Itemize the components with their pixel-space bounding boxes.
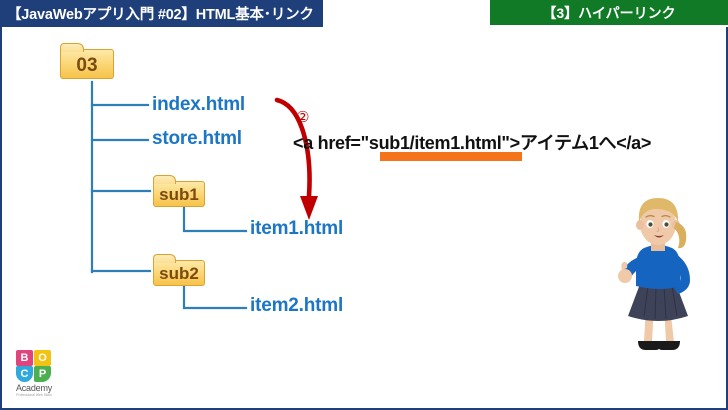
logo-tile-b: B: [16, 350, 33, 366]
folder-03-label: 03: [76, 56, 97, 75]
folder-sub1-label: sub1: [159, 186, 199, 203]
file-item1-html[interactable]: item1.html: [250, 218, 343, 240]
tree-branch-item1: [184, 207, 246, 231]
logo-wordmark: Academy: [10, 383, 58, 393]
code-highlight-bar: [380, 152, 522, 161]
step-number-badge: ②: [296, 110, 309, 125]
logo-tile-p: P: [34, 366, 51, 382]
logo-tile-o: O: [34, 350, 51, 366]
logo-tagline: Professional Web Skills: [10, 393, 58, 397]
logo-tile-c: C: [16, 366, 33, 382]
instructor-character-illustration: [596, 196, 716, 366]
file-store-html[interactable]: store.html: [152, 128, 242, 150]
folder-sub1[interactable]: sub1: [153, 181, 205, 207]
bcp-academy-logo: B O C P Academy Professional Web Skills: [10, 350, 58, 398]
folder-sub2[interactable]: sub2: [153, 260, 205, 286]
file-item2-html[interactable]: item2.html: [250, 295, 343, 317]
tree-branch-item2: [184, 286, 246, 308]
folder-sub2-label: sub2: [159, 265, 199, 282]
slide-root: 【JavaWebアプリ入門 #02】HTML基本･リンク 【3】ハイパーリンク: [0, 0, 728, 410]
file-index-html[interactable]: index.html: [152, 94, 245, 116]
folder-03[interactable]: 03: [60, 49, 114, 79]
logo-tiles: B O C P: [15, 350, 53, 382]
